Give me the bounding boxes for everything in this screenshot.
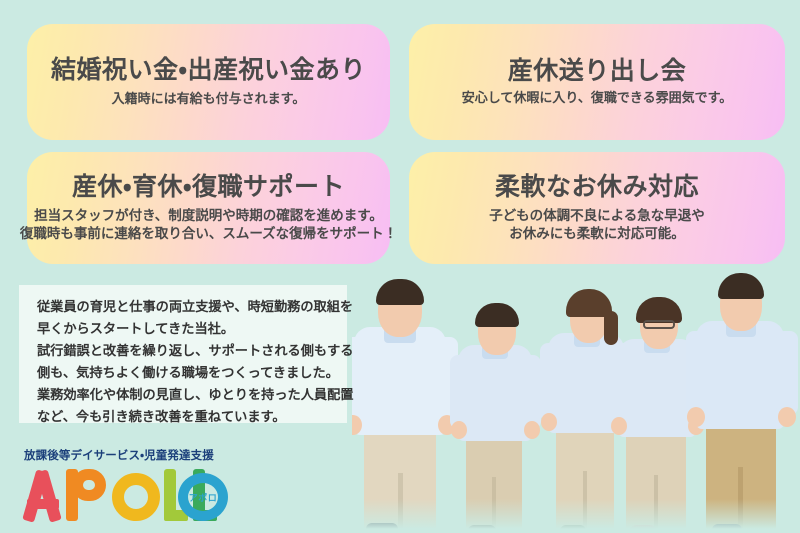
arm-right xyxy=(776,331,798,415)
hand-left xyxy=(611,417,627,435)
benefit-card-wedding-childbirth-allowance[interactable]: 結婚祝い金・出産祝い金あり 入籍時には有給も付与されます。 xyxy=(27,24,390,140)
arm-left xyxy=(610,349,629,425)
copy-line: 試行錯誤と改善を繰り返し、サポートされる側もする xyxy=(37,341,331,363)
photo-bottom-fade xyxy=(352,499,800,533)
staff-person-5 xyxy=(688,268,800,533)
logo-letter-p xyxy=(66,469,110,521)
logo-letter-o-gold xyxy=(112,473,160,521)
arm-right xyxy=(522,355,541,429)
card-title: 産休・育休・復職サポート xyxy=(72,172,345,202)
hair xyxy=(718,273,764,299)
shirt xyxy=(458,345,532,441)
card-subtitle-line-1: 子どもの体調不良による急な早退や xyxy=(489,207,705,226)
arm-left xyxy=(540,343,559,421)
glasses-icon xyxy=(643,320,675,329)
hand-left xyxy=(451,421,467,439)
benefit-card-flexible-time-off[interactable]: 柔軟なお休み対応 子どもの体調不良による急な早退や お休みにも柔軟に対応可能。 xyxy=(409,152,785,264)
copy-line: 早くからスタートしてきた当社。 xyxy=(37,319,331,341)
shirt xyxy=(618,339,696,437)
card-subtitle-line-1: 担当スタッフが付き、制度説明や時期の確認を進めます。 xyxy=(34,207,383,226)
card-subtitle: 安心して休暇に入り、復職できる雰囲気です。 xyxy=(462,90,733,108)
staff-walking-photo xyxy=(352,268,800,533)
hand-right xyxy=(778,407,796,427)
arm-left xyxy=(352,337,366,423)
card-title: 結婚祝い金・出産祝い金あり xyxy=(51,55,366,85)
hair xyxy=(475,303,519,327)
page-root: 結婚祝い金・出産祝い金あり 入籍時には有給も付与されます。 産休送り出し会 安心… xyxy=(0,0,800,533)
card-subtitle: 入籍時には有給も付与されます。 xyxy=(112,91,306,109)
logo-kana-label: アポロ xyxy=(189,491,218,504)
hand-right xyxy=(524,421,540,439)
copy-line: 業務効率化や体制の見直し、ゆとりを持った人員配置 xyxy=(37,385,331,407)
arm-left xyxy=(686,331,708,415)
copy-line: など、今も引き続き改善を重ねています。 xyxy=(37,407,331,429)
hand-left xyxy=(541,413,557,431)
logo-letter-a xyxy=(20,469,68,519)
hair xyxy=(376,279,424,305)
card-subtitle-line-2: お休みにも柔軟に対応可能。 xyxy=(509,225,685,244)
card-subtitle-line-2: 復職時も事前に連絡を取り合い、スムーズな復帰をサポート！ xyxy=(20,225,397,244)
hand-left xyxy=(687,407,705,427)
card-title: 産休送り出し会 xyxy=(508,56,687,86)
logo-tagline: 放課後等デイサービス・児童発達支援 xyxy=(24,447,268,463)
arm-left xyxy=(450,355,469,429)
benefit-card-leave-and-return-support[interactable]: 産休・育休・復職サポート 担当スタッフが付き、制度説明や時期の確認を進めます。 … xyxy=(27,152,390,264)
copy-line: 従業員の育児と仕事の両立支援や、時短勤務の取組を xyxy=(37,297,331,319)
shirt xyxy=(354,327,446,435)
logo-letter-o-blue: アポロ xyxy=(178,473,228,521)
staff-person-2 xyxy=(452,285,544,533)
company-description-panel: 従業員の育児と仕事の両立支援や、時短勤務の取組を 早くからスタートしてきた当社。… xyxy=(19,285,347,423)
apollo-logo[interactable]: 放課後等デイサービス・児童発達支援 アポロ xyxy=(18,447,268,525)
copy-line: 側も、気持ちよく働ける職場をつくってきました。 xyxy=(37,363,331,385)
benefit-card-maternity-sendoff-party[interactable]: 産休送り出し会 安心して休暇に入り、復職できる雰囲気です。 xyxy=(409,24,785,140)
logo-wordmark: アポロ xyxy=(18,465,248,521)
shirt xyxy=(696,321,784,429)
card-title: 柔軟なお休み対応 xyxy=(495,172,699,202)
